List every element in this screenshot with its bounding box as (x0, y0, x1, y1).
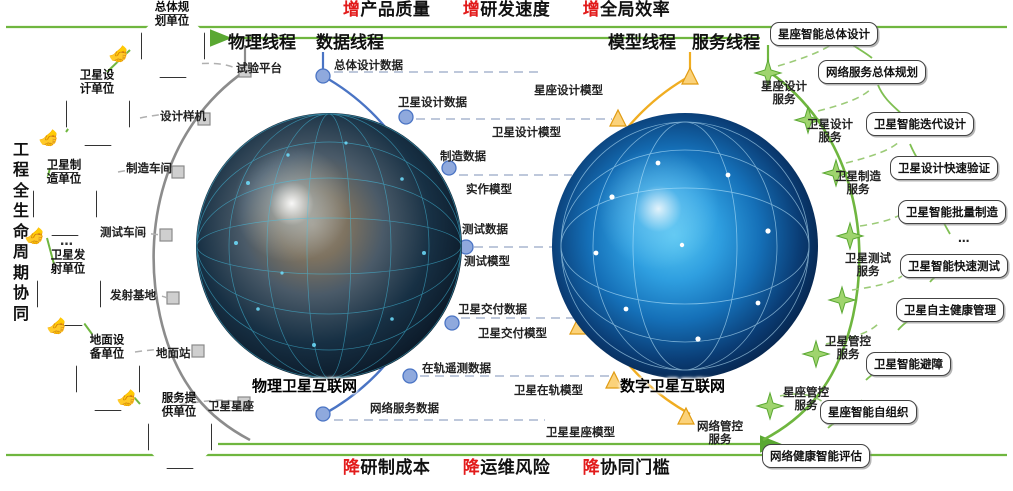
physical-node-3: 测试车间 (100, 226, 146, 239)
thread-header-physical: 物理线程 (228, 34, 296, 53)
capability-box-2[interactable]: 卫星智能迭代设计 (866, 112, 974, 136)
capability-ellipsis: … (958, 232, 970, 245)
physical-node-4: 发射基地 (110, 289, 156, 302)
diagram-canvas: 增产品质量 增研发速度 增全局效率 降研制成本 降运维风险 降协同门槛 工程全生… (0, 0, 1013, 491)
data-node-3: 测试数据 (462, 223, 508, 236)
org-node-service-shape (148, 405, 212, 469)
digital-satellite-globe (552, 113, 818, 379)
thread-header-data: 数据线程 (316, 34, 384, 53)
sphere-caption-left: 物理卫星互联网 (252, 378, 357, 395)
bottom-slogan-0: 降研制成本 (343, 458, 431, 478)
capability-box-0[interactable]: 星座智能总体设计 (770, 22, 878, 46)
service-node-2: 卫星制造服务 (828, 170, 888, 196)
top-slogan-0: 增产品质量 (343, 0, 431, 20)
capability-box-5[interactable]: 卫星智能快速测试 (900, 254, 1008, 278)
data-node-6: 网络服务数据 (370, 402, 439, 415)
data-node-1: 卫星设计数据 (398, 96, 467, 109)
bottom-slogan-2: 降协同门槛 (583, 458, 671, 478)
top-slogan-row: 增产品质量 增研发速度 增全局效率 (0, 1, 1013, 20)
top-slogan-2: 增全局效率 (583, 0, 671, 20)
capability-box-6[interactable]: 卫星自主健康管理 (896, 298, 1004, 322)
capability-box-3[interactable]: 卫星设计快速验证 (890, 156, 998, 180)
sphere-caption-right: 数字卫星互联网 (620, 378, 725, 395)
bottom-slogan-1: 降运维风险 (463, 458, 551, 478)
capability-box-8[interactable]: 星座智能自组织 (820, 400, 917, 424)
capability-box-1[interactable]: 网络服务总体规划 (818, 60, 926, 84)
top-slogan-1: 增研发速度 (463, 0, 551, 20)
model-node-0: 星座设计模型 (534, 84, 603, 97)
data-node-2: 制造数据 (440, 150, 486, 163)
model-node-3: 测试模型 (464, 255, 510, 268)
physical-satellite-globe (196, 113, 462, 379)
thread-header-service: 服务线程 (692, 34, 760, 53)
service-node-3: 卫星测试服务 (838, 252, 898, 278)
physical-node-5: 地面站 (156, 347, 191, 360)
service-node-1: 卫星设计服务 (800, 118, 860, 144)
data-node-4: 卫星交付数据 (458, 303, 527, 316)
model-node-2: 实作模型 (466, 183, 512, 196)
org-node-launch-shape (37, 262, 101, 326)
capability-box-7[interactable]: 卫星智能避障 (866, 352, 951, 376)
physical-node-6: 卫星星座 (208, 400, 254, 413)
capability-box-9[interactable]: 网络健康智能评估 (762, 444, 870, 468)
physical-node-2: 制造车间 (126, 162, 172, 175)
data-node-5: 在轨遥测数据 (422, 362, 491, 375)
data-node-0: 总体设计数据 (334, 59, 403, 72)
globe-right-mesh (552, 113, 818, 379)
capability-box-4[interactable]: 卫星智能批量制造 (898, 200, 1006, 224)
globe-left-mesh (196, 113, 462, 379)
model-node-6: 卫星星座模型 (546, 426, 615, 439)
model-node-4: 卫星交付模型 (478, 327, 547, 340)
org-node-plan-shape (141, 14, 205, 78)
org-node-mfg-shape (33, 172, 97, 236)
physical-node-1: 设计样机 (160, 110, 206, 123)
model-node-5: 卫星在轨模型 (514, 384, 583, 397)
physical-node-0: 试验平台 (236, 62, 282, 75)
org-chain-ellipsis: … (60, 235, 73, 250)
model-node-1: 卫星设计模型 (492, 126, 561, 139)
service-node-6: 网络管控服务 (690, 420, 750, 446)
service-node-0: 星座设计服务 (754, 80, 814, 106)
thread-header-model: 模型线程 (608, 34, 676, 53)
